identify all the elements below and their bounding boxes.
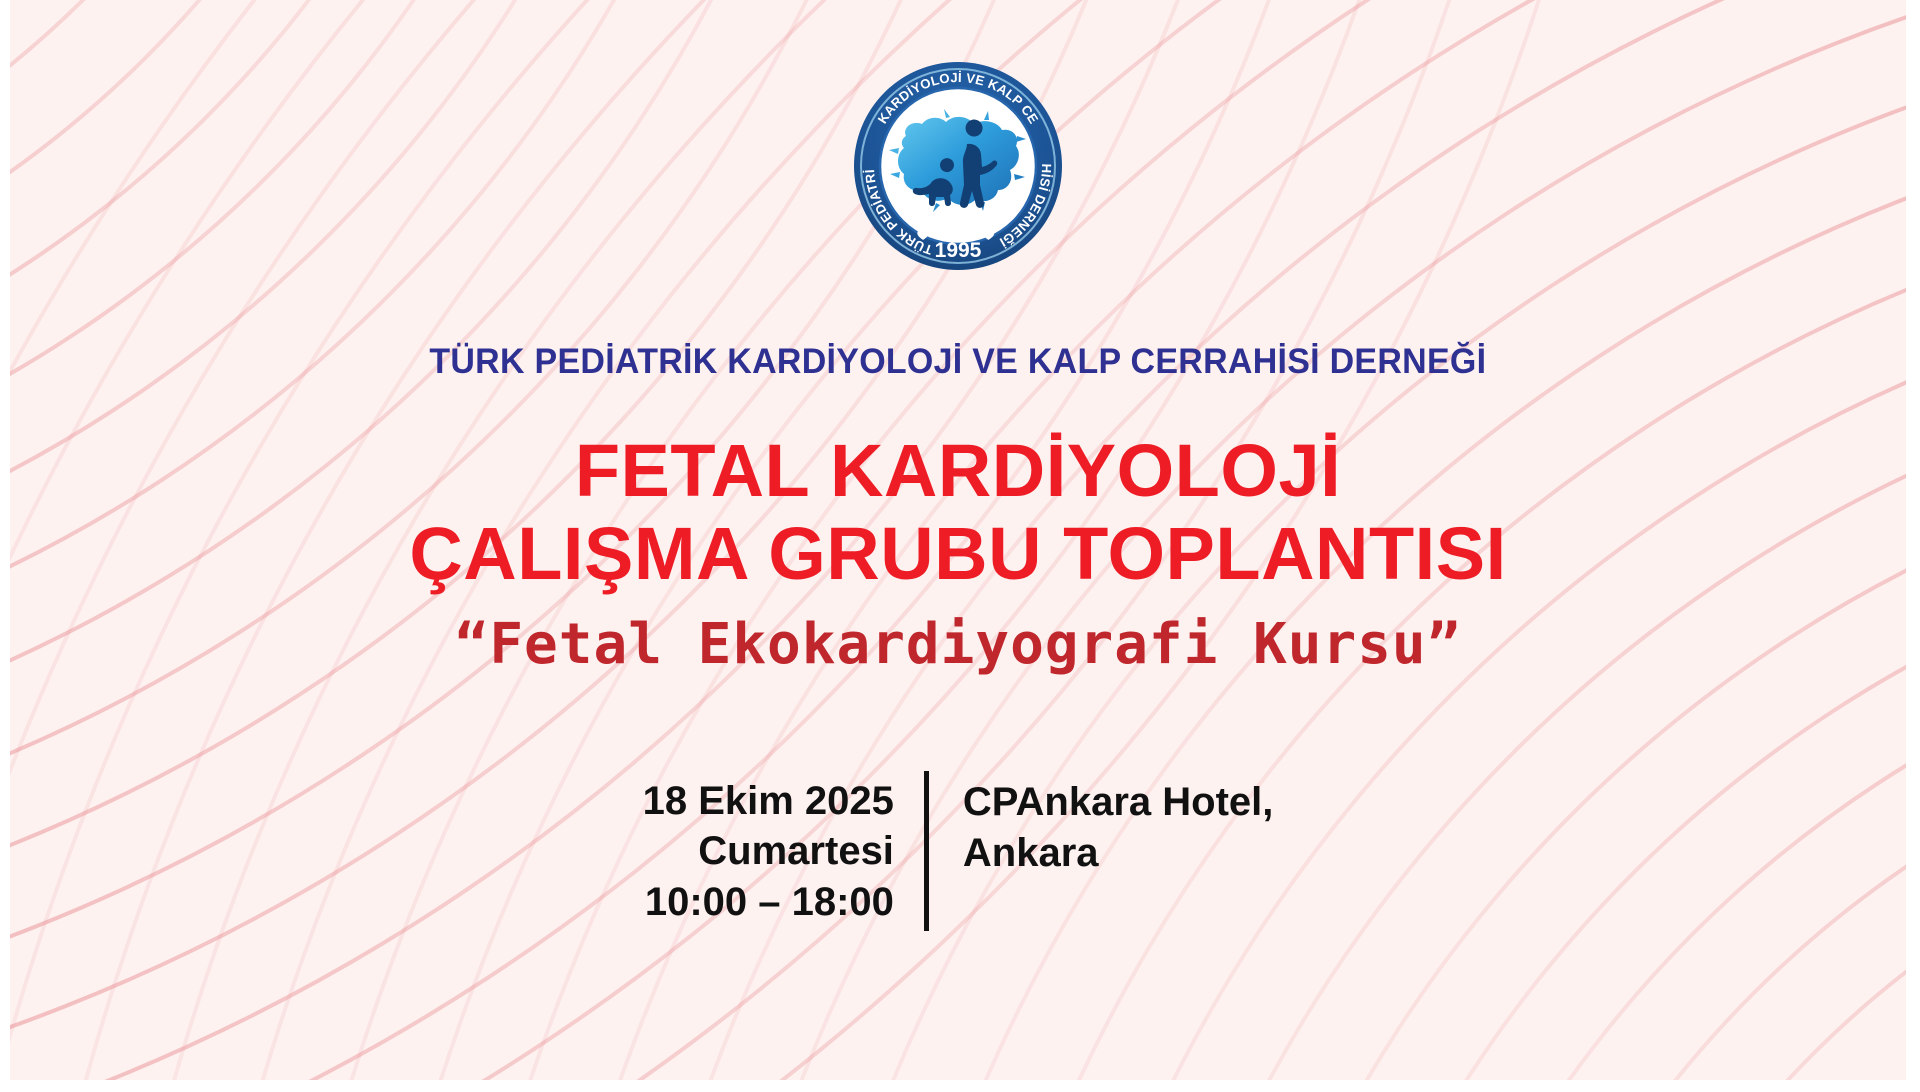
event-title-line-1: FETAL KARDİYOLOJİ	[409, 430, 1506, 513]
association-name: TÜRK PEDİATRİK KARDİYOLOJİ VE KALP CERRA…	[430, 342, 1487, 382]
event-title-line-2: ÇALIŞMA GRUBU TOPLANTISI	[409, 513, 1506, 596]
event-date-block: 18 Ekim 2025 Cumartesi 10:00 – 18:00	[643, 776, 924, 927]
event-venue-line-2: Ankara	[963, 828, 1273, 878]
event-venue-line-1: CPAnkara Hotel,	[963, 777, 1273, 827]
event-time: 10:00 – 18:00	[643, 877, 894, 927]
association-logo: KARDİYOLOJİ VE KALP CE TÜRK PEDİATRİK RR…	[850, 58, 1066, 274]
poster-content: KARDİYOLOJİ VE KALP CE TÜRK PEDİATRİK RR…	[10, 0, 1906, 1080]
event-venue-block: CPAnkara Hotel, Ankara	[929, 771, 1273, 878]
event-details: 18 Ekim 2025 Cumartesi 10:00 – 18:00 CPA…	[643, 771, 1274, 931]
logo-year: 1995	[935, 239, 982, 262]
event-title: FETAL KARDİYOLOJİ ÇALIŞMA GRUBU TOPLANTI…	[409, 430, 1506, 596]
event-day: Cumartesi	[643, 826, 894, 876]
poster-canvas: KARDİYOLOJİ VE KALP CE TÜRK PEDİATRİK RR…	[10, 0, 1906, 1080]
event-subtitle: “Fetal Ekokardiyografi Kursu”	[455, 614, 1462, 676]
event-date: 18 Ekim 2025	[643, 776, 894, 826]
event-poster: KARDİYOLOJİ VE KALP CE TÜRK PEDİATRİK RR…	[0, 0, 1920, 1092]
